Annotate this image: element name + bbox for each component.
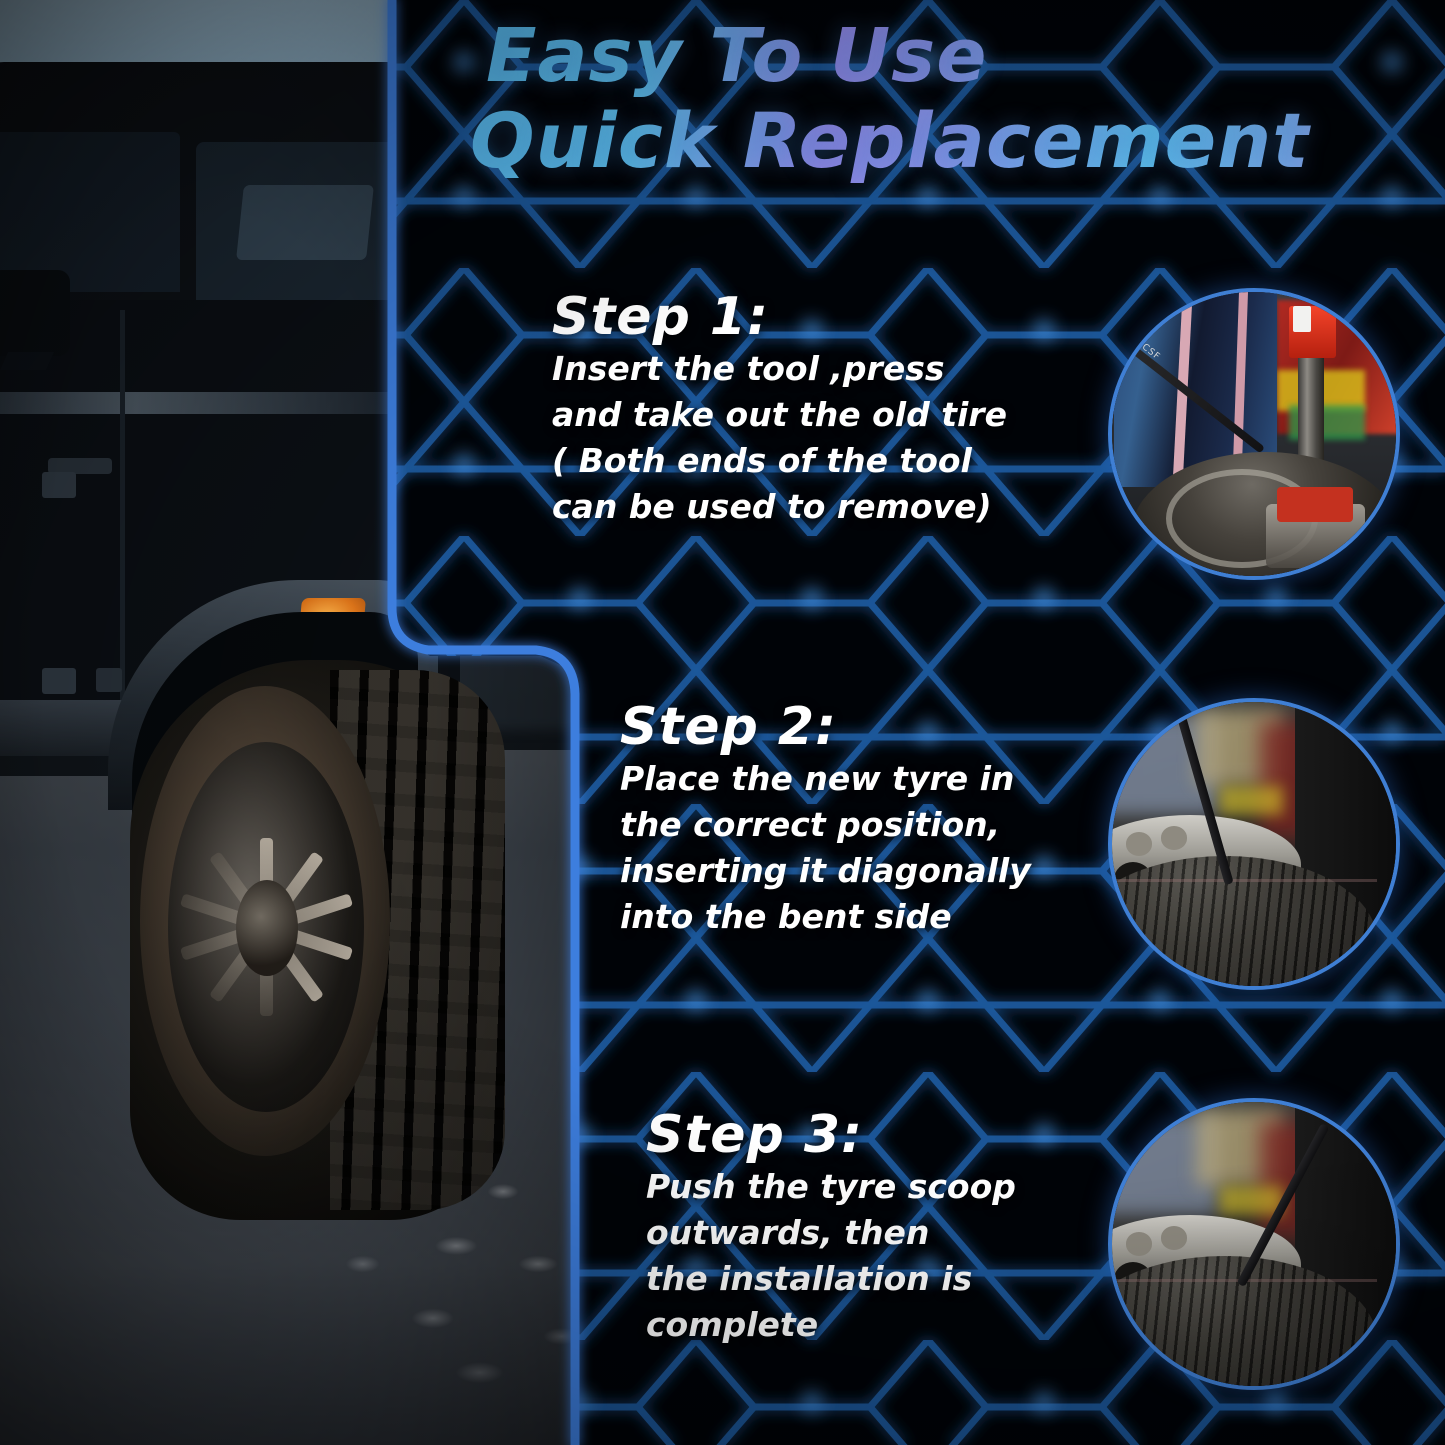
bg-blur-yellow xyxy=(1219,1186,1283,1215)
jeep-mirror-arm xyxy=(0,352,54,370)
step-1-heading: Step 1: xyxy=(552,288,1052,346)
lug-nut-2 xyxy=(1161,1226,1187,1249)
step-1-line-2: and take out the old tire xyxy=(552,392,1052,438)
jeep-door-hinge-upper xyxy=(42,472,76,498)
lug-nut-2 xyxy=(1161,826,1187,849)
machine-clamp-red xyxy=(1277,487,1353,522)
step-2-heading: Step 2: xyxy=(620,698,1050,756)
jeep-door-hinge-lower2 xyxy=(96,668,122,692)
step-2-line-3: inserting it diagonally xyxy=(620,848,1050,894)
step-3-heading: Step 3: xyxy=(646,1106,1046,1164)
poster-root: Easy To Use Quick Replacement Step 1: In… xyxy=(0,0,1445,1445)
title-line-2: Quick Replacement xyxy=(470,98,1410,184)
poster-title: Easy To Use Quick Replacement xyxy=(470,14,1410,184)
step-1-line-1: Insert the tool ,press xyxy=(552,346,1052,392)
white-label-tag xyxy=(1293,306,1311,332)
step-3-photo-circle xyxy=(1108,1098,1400,1390)
jeep-front-window xyxy=(0,132,180,292)
step-1-photo-circle: CACSF xyxy=(1108,288,1400,580)
lug-nut-1 xyxy=(1126,832,1152,855)
tyre-marking-line xyxy=(1108,879,1377,882)
step-1-line-3: ( Both ends of the tool xyxy=(552,438,1052,484)
window-glare xyxy=(236,185,374,260)
wheel-hub-cap xyxy=(236,880,298,976)
step-3-line-2: outwards, then xyxy=(646,1210,1046,1256)
step-2-line-4: into the bent side xyxy=(620,894,1050,940)
jeep-door-seam xyxy=(120,310,125,710)
step-1-line-4: can be used to remove) xyxy=(552,484,1052,530)
step-2-line-2: the correct position, xyxy=(620,802,1050,848)
step-1-block: Step 1: Insert the tool ,press and take … xyxy=(552,288,1052,530)
step-3-block: Step 3: Push the tyre scoop outwards, th… xyxy=(646,1106,1046,1348)
step-3-line-4: complete xyxy=(646,1302,1046,1348)
step-2-block: Step 2: Place the new tyre in the correc… xyxy=(620,698,1050,940)
step-3-line-1: Push the tyre scoop xyxy=(646,1164,1046,1210)
step-3-line-3: the installation is xyxy=(646,1256,1046,1302)
jeep-body-highlight xyxy=(0,392,400,414)
title-line-1: Easy To Use xyxy=(486,14,1410,98)
step-2-line-1: Place the new tyre in xyxy=(620,756,1050,802)
lug-nut-1 xyxy=(1126,1232,1152,1255)
bg-blur-yellow xyxy=(1219,786,1283,815)
step-2-photo-circle xyxy=(1108,698,1400,990)
jeep-side-mirror xyxy=(0,270,70,356)
jeep-door-hinge-lower xyxy=(42,668,76,694)
